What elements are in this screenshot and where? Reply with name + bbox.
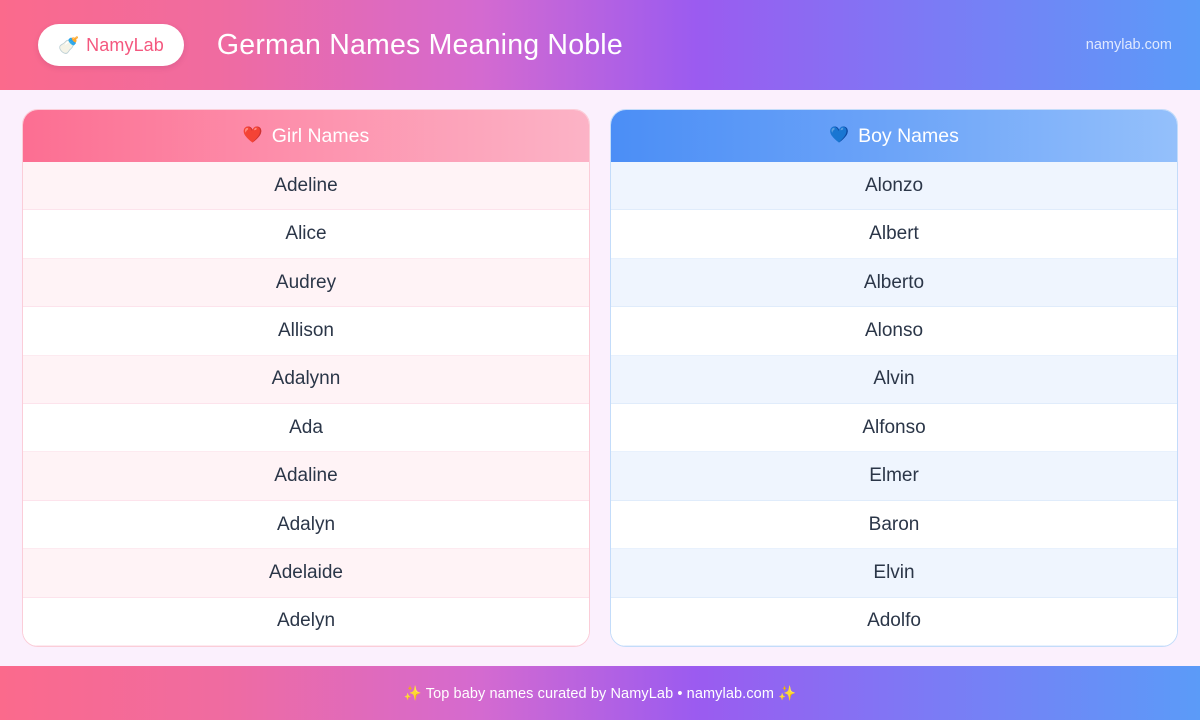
list-item[interactable]: Alice (23, 210, 589, 258)
list-item[interactable]: Adelyn (23, 598, 589, 646)
list-item[interactable]: Elmer (611, 452, 1177, 500)
list-item[interactable]: Audrey (23, 259, 589, 307)
footer-credit-text: ✨ Top baby names curated by NamyLab • na… (404, 685, 797, 702)
page-header: 🍼 NamyLab German Names Meaning Noble nam… (0, 0, 1200, 90)
girl-names-list: Adeline Alice Audrey Allison Adalynn Ada… (23, 162, 589, 646)
blue-heart-icon: 💙 (829, 128, 849, 144)
page-footer: ✨ Top baby names curated by NamyLab • na… (0, 666, 1200, 720)
list-item[interactable]: Allison (23, 307, 589, 355)
girl-names-card-header: ❤️ Girl Names (23, 110, 589, 162)
baby-bottle-icon: 🍼 (58, 37, 79, 54)
list-item[interactable]: Adeline (23, 162, 589, 210)
list-item[interactable]: Baron (611, 501, 1177, 549)
list-item[interactable]: Adolfo (611, 598, 1177, 646)
logo-label: NamyLab (86, 35, 164, 56)
names-columns: ❤️ Girl Names Adeline Alice Audrey Allis… (0, 90, 1200, 666)
girl-names-card-title: Girl Names (272, 125, 370, 148)
list-item[interactable]: Adelaide (23, 549, 589, 597)
list-item[interactable]: Ada (23, 404, 589, 452)
girl-names-card: ❤️ Girl Names Adeline Alice Audrey Allis… (22, 109, 590, 647)
red-heart-icon: ❤️ (243, 128, 263, 144)
list-item[interactable]: Elvin (611, 549, 1177, 597)
list-item[interactable]: Alonso (611, 307, 1177, 355)
boy-names-list: Alonzo Albert Alberto Alonso Alvin Alfon… (611, 162, 1177, 646)
header-domain-label: namylab.com (1086, 37, 1172, 53)
boy-names-card: 💙 Boy Names Alonzo Albert Alberto Alonso… (610, 109, 1178, 647)
list-item[interactable]: Albert (611, 210, 1177, 258)
list-item[interactable]: Alonzo (611, 162, 1177, 210)
boy-names-card-header: 💙 Boy Names (611, 110, 1177, 162)
list-item[interactable]: Adalyn (23, 501, 589, 549)
page-title: German Names Meaning Noble (217, 29, 623, 62)
list-item[interactable]: Alfonso (611, 404, 1177, 452)
list-item[interactable]: Alberto (611, 259, 1177, 307)
boy-names-card-title: Boy Names (858, 125, 959, 148)
list-item[interactable]: Adalynn (23, 356, 589, 404)
list-item[interactable]: Adaline (23, 452, 589, 500)
list-item[interactable]: Alvin (611, 356, 1177, 404)
namylab-logo-badge[interactable]: 🍼 NamyLab (38, 24, 184, 66)
